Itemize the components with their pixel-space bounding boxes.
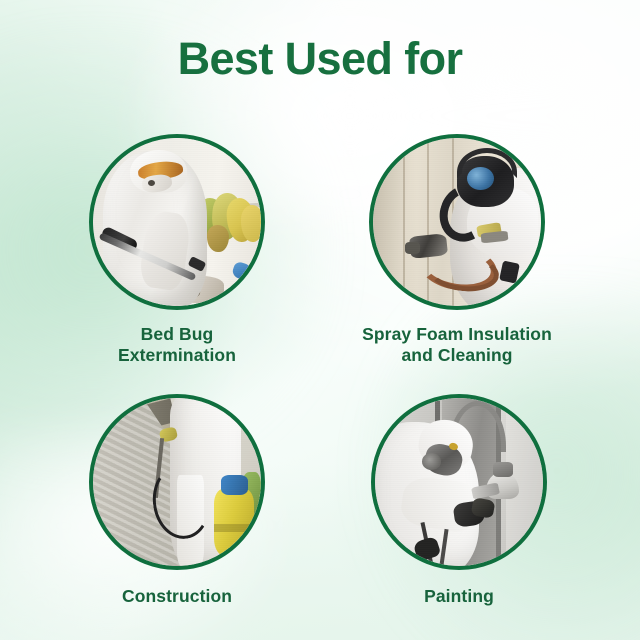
photo3-sprayer-tank bbox=[214, 489, 254, 556]
photo3-tank-band bbox=[214, 524, 254, 532]
card-label-line1: Bed Bug bbox=[141, 324, 214, 344]
card-label-bed-bug: Bed Bug Extermination bbox=[62, 324, 292, 366]
photo-bed-bug-extermination bbox=[93, 138, 261, 306]
photo4-equipment-top bbox=[493, 462, 513, 477]
circle-frame-bed-bug bbox=[89, 134, 265, 310]
circle-frame-painting bbox=[371, 394, 547, 570]
card-label-spray-foam: Spray Foam Insulation and Cleaning bbox=[342, 324, 572, 366]
page-title: Best Used for bbox=[0, 33, 640, 85]
photo-painting bbox=[375, 398, 543, 566]
circle-frame-spray-foam bbox=[369, 134, 545, 310]
photo-spray-foam-insulation bbox=[373, 138, 541, 306]
photo1-hanging-item bbox=[241, 205, 261, 242]
photo2-plank-line bbox=[427, 138, 429, 306]
poster-canvas: Best Used for bbox=[0, 0, 640, 640]
card-painting[interactable]: Painting bbox=[344, 394, 574, 607]
card-spray-foam-insulation[interactable]: Spray Foam Insulation and Cleaning bbox=[342, 134, 572, 366]
card-label-painting: Painting bbox=[344, 586, 574, 607]
photo-construction bbox=[93, 398, 261, 566]
photo3-tank-cap bbox=[221, 475, 248, 495]
circle-frame-construction bbox=[89, 394, 265, 570]
card-label-line2: Extermination bbox=[118, 345, 236, 365]
photo2-gun-nozzle bbox=[405, 242, 420, 254]
photo2-shadow bbox=[373, 138, 417, 306]
card-bed-bug-extermination[interactable]: Bed Bug Extermination bbox=[62, 134, 292, 366]
photo4-respirator-filter bbox=[422, 453, 440, 470]
card-label-line2: and Cleaning bbox=[401, 345, 512, 365]
card-construction[interactable]: Construction bbox=[62, 394, 292, 607]
card-label-construction: Construction bbox=[62, 586, 292, 607]
photo2-plank-line bbox=[403, 138, 405, 306]
card-label-line1: Spray Foam Insulation bbox=[362, 324, 552, 344]
